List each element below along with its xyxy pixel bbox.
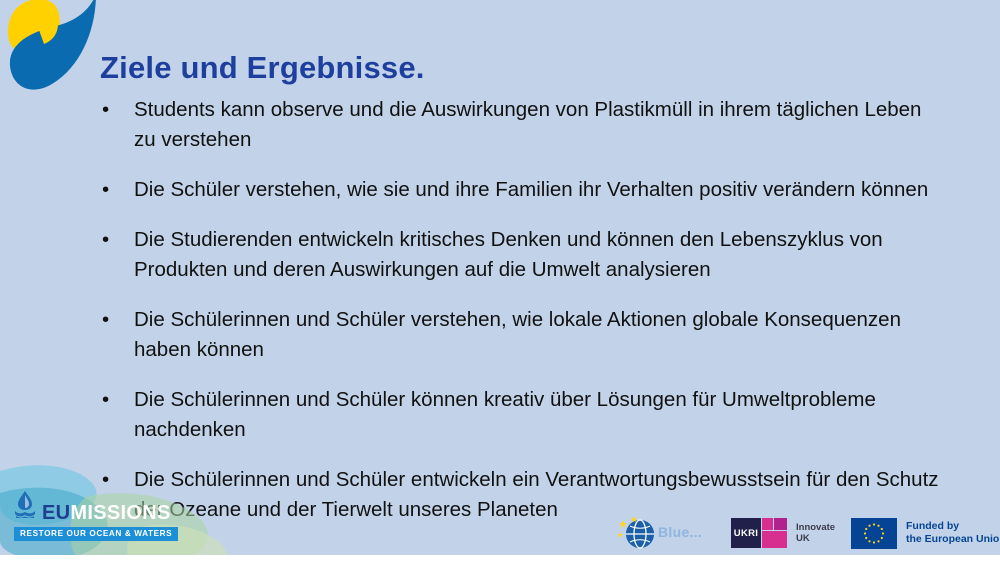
bullet-icon: • (102, 385, 109, 415)
list-item: • Die Schülerinnen und Schüler verstehen… (96, 305, 946, 365)
list-item: • Die Schüler verstehen, wie sie und ihr… (96, 175, 946, 205)
list-item-text: Die Schülerinnen und Schüler verstehen, … (134, 305, 946, 365)
bullet-icon: • (102, 95, 109, 125)
eu-flag-icon (851, 518, 897, 549)
partner-globe-text: Blue... (658, 524, 702, 540)
ukri-square-text: UKRI (734, 529, 758, 538)
bullet-icon: • (102, 305, 109, 335)
water-drop-wave-icon (14, 491, 36, 523)
list-item-text: Die Studierenden entwickeln kritisches D… (134, 225, 946, 285)
list-item: • Die Schülerinnen und Schüler können kr… (96, 385, 946, 445)
globe-stars-icon: Blue... (618, 515, 722, 551)
innovate-uk-logo: UKRI Innovate UK (731, 517, 835, 549)
ukri-mark: UKRI (731, 518, 787, 548)
ukri-block-a (762, 518, 773, 530)
eu-missions-tagline: RESTORE OUR OCEAN & WATERS (14, 527, 178, 541)
innovate-uk-label-line2: UK (796, 533, 835, 545)
eu-funding-label-line2: the European Union (906, 533, 1000, 546)
page-title: Ziele und Ergebnisse. (100, 50, 425, 86)
ukri-block-b (762, 531, 787, 548)
eu-missions-lockup: EUMISSIONS RESTORE OUR OCEAN & WATERS (14, 495, 184, 542)
eu-funding-label: Funded by the European Union (906, 520, 1000, 546)
ukri-block-c (774, 518, 787, 530)
list-item-text: Students kann observe und die Auswirkung… (134, 95, 946, 155)
bullet-icon: • (102, 175, 109, 205)
bullet-icon: • (102, 225, 109, 255)
eu-missions-word-secondary: MISSIONS (70, 502, 170, 524)
list-item: • Die Studierenden entwickeln kritisches… (96, 225, 946, 285)
list-item-text: Die Schülerinnen und Schüler können krea… (134, 385, 946, 445)
slide-canvas: Ziele und Ergebnisse. • Students kann ob… (0, 0, 1000, 563)
eu-funding-logo: Funded by the European Union (851, 517, 1000, 549)
eu-missions-logo: EUMISSIONS RESTORE OUR OCEAN & WATERS (0, 453, 300, 563)
bottom-white-strip (0, 555, 1000, 563)
eu-missions-word-primary: EU (42, 502, 70, 524)
list-item-text: Die Schüler verstehen, wie sie und ihre … (134, 175, 946, 205)
list-item: • Students kann observe und die Auswirku… (96, 95, 946, 155)
innovate-uk-label: Innovate UK (796, 522, 835, 545)
eu-funding-label-line1: Funded by (906, 520, 1000, 533)
ukri-square: UKRI (731, 518, 761, 548)
leaf-swoosh-logo (0, 0, 104, 102)
innovate-uk-label-line1: Innovate (796, 522, 835, 534)
